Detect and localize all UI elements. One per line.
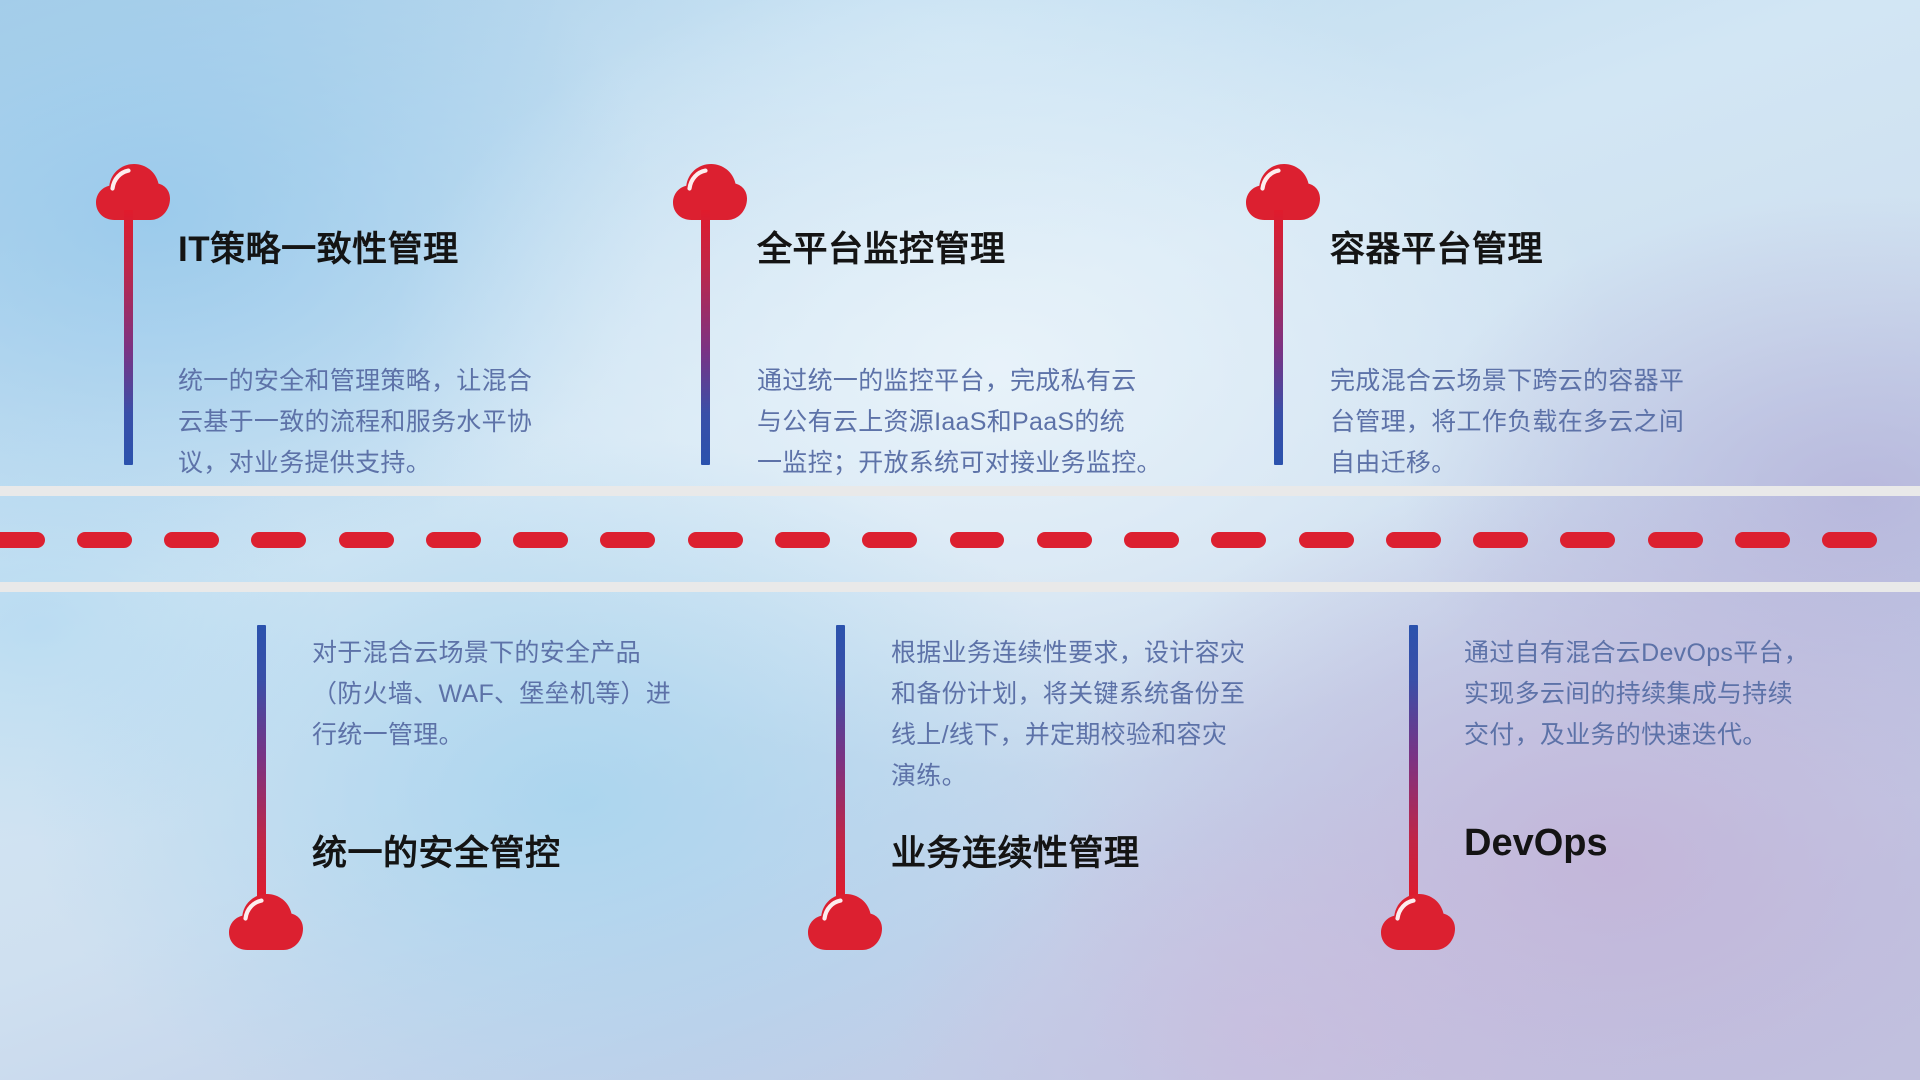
bottom-column-2-body: 根据业务连续性要求，设计容灾 和备份计划，将关键系统备份至 线上/线下，并定期校… [891,633,1331,797]
bottom-column-1-body: 对于混合云场景下的安全产品 （防火墙、WAF、堡垒机等）进 行统一管理。 [312,633,742,756]
road-dash [862,532,917,548]
road-dash [1473,532,1528,548]
top-column-1-body: 统一的安全和管理策略，让混合 云基于一致的流程和服务水平协 议，对业务提供支持。 [178,361,608,484]
connector-line [836,625,845,900]
road-dash [688,532,743,548]
road-dash [251,532,306,548]
cloud-icon [95,163,171,221]
road-dash [1560,532,1615,548]
road-dash [1735,532,1790,548]
cloud-icon [672,163,748,221]
road-dash [1037,532,1092,548]
top-column-2-body: 通过统一的监控平台，完成私有云 与公有云上资源IaaS和PaaS的统 一监控；开… [757,361,1217,484]
connector-line [701,210,710,465]
road-dash [77,532,132,548]
road-dash [1648,532,1703,548]
road-dash [426,532,481,548]
cloud-icon [1380,893,1456,951]
connector-line [124,210,133,465]
road-dash [775,532,830,548]
road-divider [0,486,1920,606]
road-edge-bottom [0,582,1920,592]
top-column-3-body: 完成混合云场景下跨云的容器平 台管理，将工作负载在多云之间 自由迁移。 [1330,361,1780,484]
road-dash [600,532,655,548]
road-dash [0,532,45,548]
road-dash [1299,532,1354,548]
bottom-column-3-title: DevOps [1464,822,1608,865]
bottom-column-3-body: 通过自有混合云DevOps平台， 实现多云间的持续集成与持续 交付，及业务的快速… [1464,633,1894,756]
connector-line [1409,625,1418,900]
road-dash [339,532,394,548]
cloud-icon [228,893,304,951]
road-dash [1124,532,1179,548]
top-column-2-title: 全平台监控管理 [757,221,1006,272]
road-dash [513,532,568,548]
road-edge-top [0,486,1920,496]
bottom-column-2-title: 业务连续性管理 [891,825,1140,876]
road-dash [1386,532,1441,548]
road-dash [1211,532,1266,548]
road-dashes [0,532,1920,548]
cloud-icon [807,893,883,951]
top-column-1-title: IT策略一致性管理 [178,221,459,272]
road-dash [164,532,219,548]
connector-line [257,625,266,900]
cloud-icon [1245,163,1321,221]
bottom-column-1-title: 统一的安全管控 [312,825,561,876]
connector-line [1274,210,1283,465]
road-dash [950,532,1005,548]
road-dash [1822,532,1877,548]
top-column-3-title: 容器平台管理 [1330,221,1543,272]
